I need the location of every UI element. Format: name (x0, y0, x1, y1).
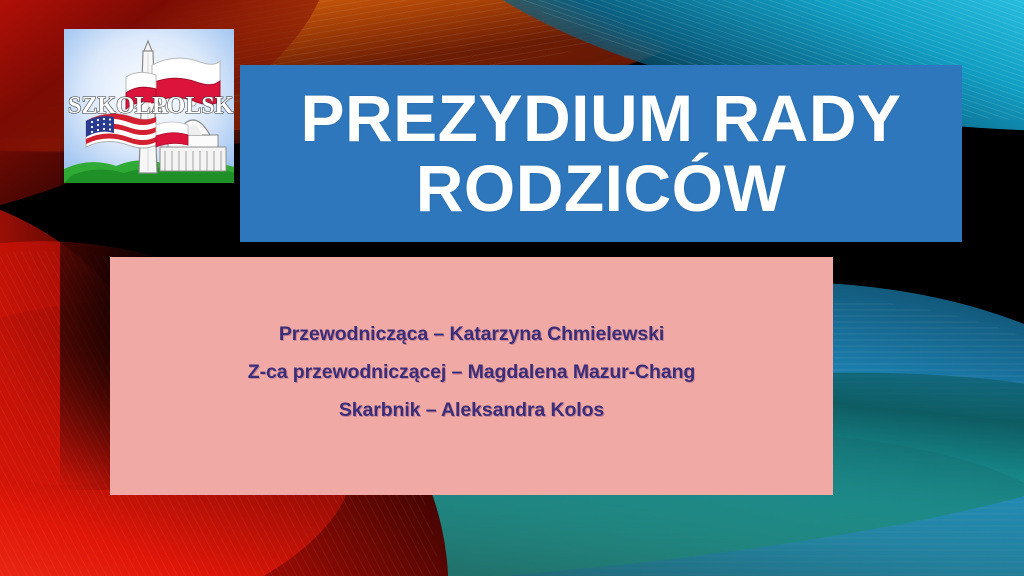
title-banner: PREZYDIUM RADY RODZICÓW (240, 65, 962, 242)
content-panel: Przewodnicząca – Katarzyna Chmielewski Z… (110, 257, 833, 495)
title-line-2: RODZICÓW (416, 151, 787, 225)
content-line-1: Przewodnicząca – Katarzyna Chmielewski (279, 315, 664, 353)
szkola-polska-logo: SZKOŁA POLSKA (64, 29, 234, 183)
presentation-slide: SZKOŁA POLSKA PREZYDIUM RADY RODZICÓW Pr… (0, 0, 1024, 576)
logo-text-right: POLSKA (152, 93, 234, 119)
content-line-2: Z-ca przewodniczącej – Magdalena Mazur-C… (248, 353, 695, 391)
content-line-3: Skarbnik – Aleksandra Kolos (339, 391, 604, 429)
page-title: PREZYDIUM RADY RODZICÓW (282, 84, 919, 224)
title-line-1: PREZYDIUM RADY (300, 81, 901, 155)
